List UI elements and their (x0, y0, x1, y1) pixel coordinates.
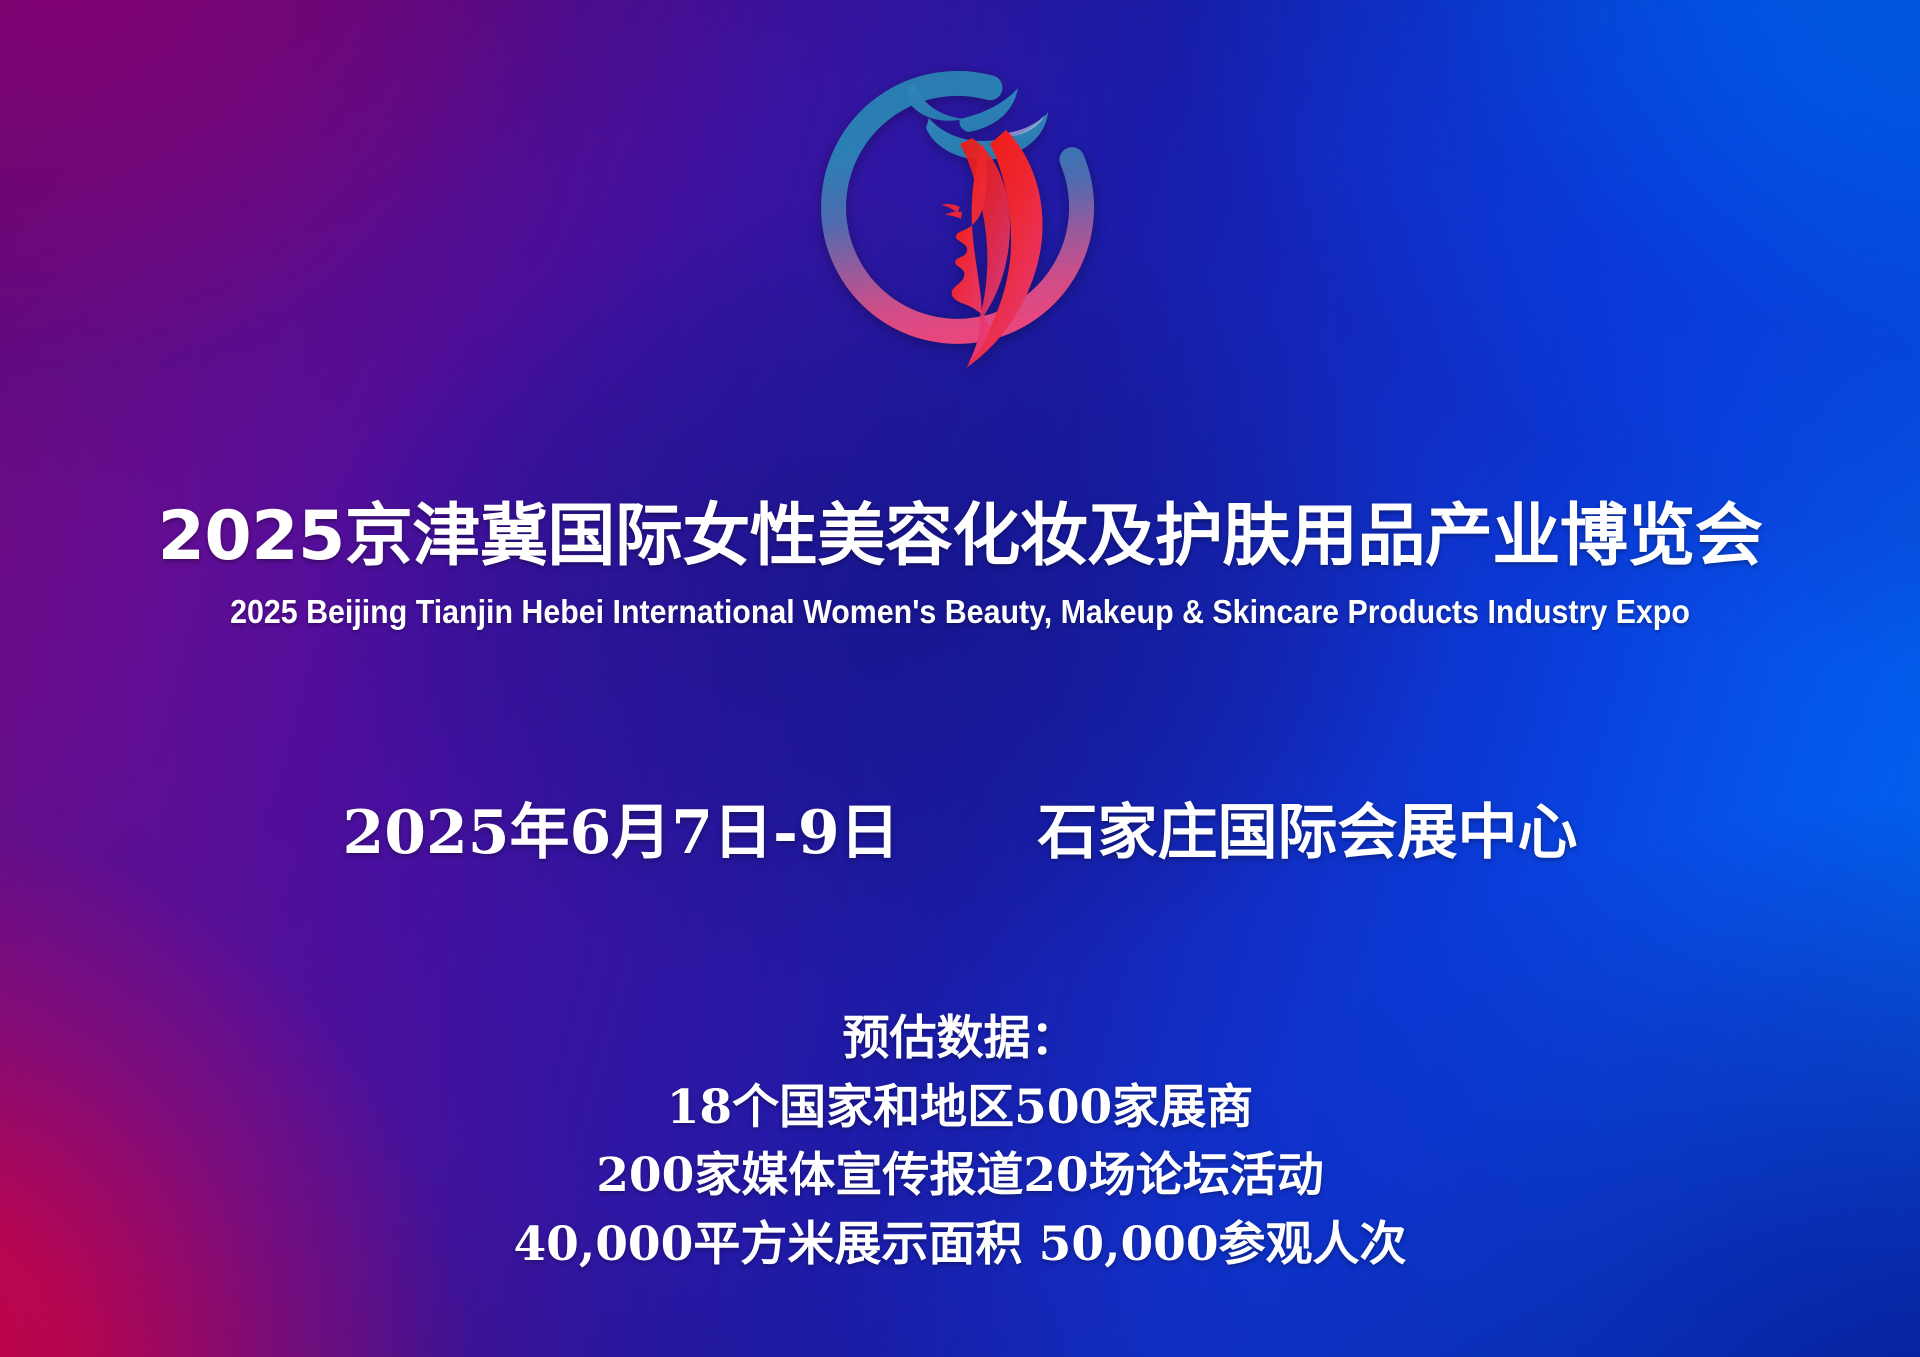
page-subtitle-english: 2025 Beijing Tianjin Hebei International… (77, 595, 1843, 628)
stats-heading: 预估数据： (0, 1005, 1920, 1074)
stats-line-area-visitors: 40,000平方米展示面积 50,000参观人次 (0, 1211, 1920, 1280)
event-venue: 石家庄国际会展中心 (1037, 798, 1577, 868)
poster-text-content: 2025京津冀国际女性美容化妆及护肤用品产业博览会 2025 Beijing T… (0, 0, 1920, 1357)
expo-poster: 2025京津冀国际女性美容化妆及护肤用品产业博览会 2025 Beijing T… (0, 0, 1920, 1357)
date-and-venue: 2025年6月7日-9日 石家庄国际会展中心 (0, 803, 1920, 863)
stats-line-media-forums: 200家媒体宣传报道20场论坛活动 (0, 1142, 1920, 1211)
event-date: 2025年6月7日-9日 (343, 798, 900, 868)
stats-line-exhibitors: 18个国家和地区500家展商 (0, 1074, 1920, 1143)
page-title-chinese: 2025京津冀国际女性美容化妆及护肤用品产业博览会 (0, 503, 1920, 571)
estimated-stats-block: 预估数据： 18个国家和地区500家展商 200家媒体宣传报道20场论坛活动 4… (0, 1005, 1920, 1279)
